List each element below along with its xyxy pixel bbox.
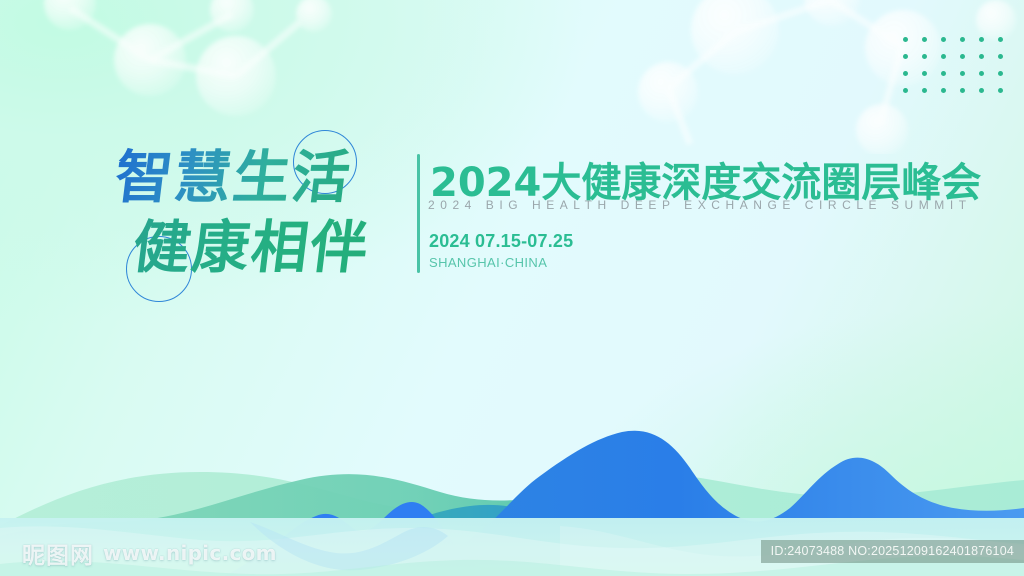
grid-dot	[903, 88, 908, 93]
grid-dot	[922, 71, 927, 76]
poster-canvas: 智慧生活 健康相伴 2024大健康深度交流圈层峰会 2024 BIG HEALT…	[0, 0, 1024, 576]
grid-dot	[979, 54, 984, 59]
grid-dot	[922, 54, 927, 59]
calligraphy-block: 智慧生活 健康相伴	[108, 126, 418, 296]
grid-dot	[998, 71, 1003, 76]
event-location: SHANGHAI·CHINA	[429, 255, 547, 270]
grid-dot	[941, 88, 946, 93]
grid-dot	[979, 37, 984, 42]
page-subtitle: 2024 BIG HEALTH DEEP EXCHANGE CIRCLE SUM…	[428, 198, 972, 212]
grid-dot	[903, 71, 908, 76]
image-id-badge: ID:24073488 NO:20251209162401876104	[761, 540, 1024, 563]
grid-dot	[922, 37, 927, 42]
title-divider	[417, 154, 420, 273]
grid-dot	[960, 37, 965, 42]
grid-dot	[903, 54, 908, 59]
grid-dot	[998, 37, 1003, 42]
grid-dot	[998, 54, 1003, 59]
calligraphy-line-2: 健康相伴	[129, 202, 375, 284]
grid-dot	[979, 88, 984, 93]
grid-dot	[922, 88, 927, 93]
grid-dot	[941, 71, 946, 76]
grid-dot	[903, 37, 908, 42]
dot-grid-decor	[903, 37, 1017, 105]
grid-dot	[960, 88, 965, 93]
grid-dot	[941, 54, 946, 59]
grid-dot	[998, 88, 1003, 93]
grid-dot	[979, 71, 984, 76]
event-date: 2024 07.15-07.25	[429, 231, 573, 252]
grid-dot	[960, 71, 965, 76]
grid-dot	[941, 37, 946, 42]
grid-dot	[960, 54, 965, 59]
